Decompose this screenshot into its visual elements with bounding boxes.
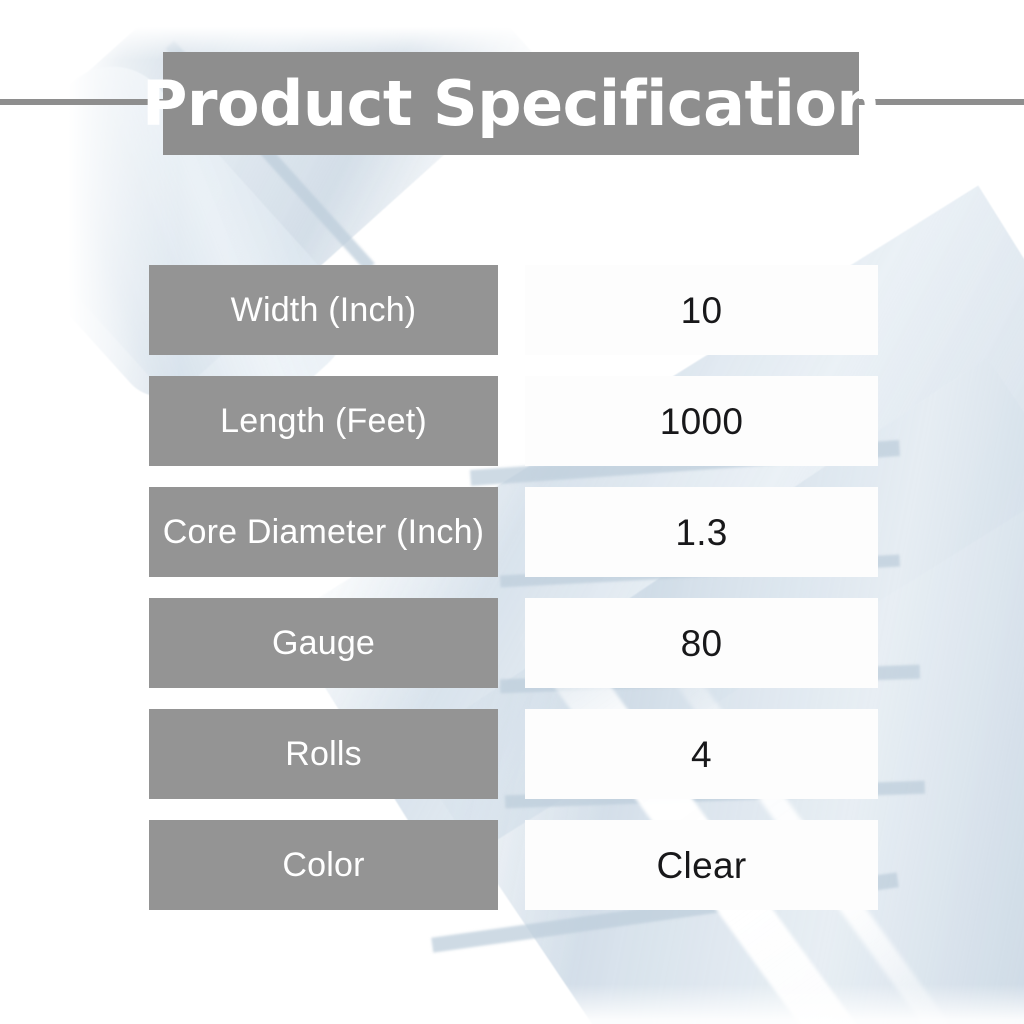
spec-label-text: Length (Feet) <box>220 403 427 439</box>
spec-value-cell: 10 <box>525 265 878 355</box>
product-specification-card: Product Specification Width (Inch) 10 Le… <box>0 0 1024 1024</box>
title-banner: Product Specification <box>163 52 859 155</box>
spec-label-text: Core Diameter (Inch) <box>163 514 484 550</box>
spec-value-text: Clear <box>657 847 747 884</box>
spec-label-cell: Width (Inch) <box>149 265 498 355</box>
spec-label-text: Width (Inch) <box>231 292 417 328</box>
spec-value-cell: 80 <box>525 598 878 688</box>
spec-value-text: 80 <box>681 625 723 662</box>
table-row: Length (Feet) 1000 <box>0 376 1024 466</box>
spec-value-cell: 1.3 <box>525 487 878 577</box>
table-row: Width (Inch) 10 <box>0 265 1024 355</box>
table-row: Color Clear <box>0 820 1024 910</box>
spec-label-cell: Color <box>149 820 498 910</box>
spec-value-cell: 4 <box>525 709 878 799</box>
specification-table: Width (Inch) 10 Length (Feet) 1000 Core … <box>0 265 1024 931</box>
spec-value-cell: Clear <box>525 820 878 910</box>
page-title: Product Specification <box>142 73 880 135</box>
spec-value-text: 4 <box>691 736 712 773</box>
spec-label-text: Gauge <box>272 625 375 661</box>
spec-label-cell: Gauge <box>149 598 498 688</box>
spec-label-cell: Core Diameter (Inch) <box>149 487 498 577</box>
table-row: Core Diameter (Inch) 1.3 <box>0 487 1024 577</box>
spec-label-text: Rolls <box>285 736 362 772</box>
table-row: Gauge 80 <box>0 598 1024 688</box>
spec-value-text: 1.3 <box>675 514 727 551</box>
background-fade-bottom <box>0 984 1024 1024</box>
spec-label-text: Color <box>282 847 364 883</box>
spec-value-cell: 1000 <box>525 376 878 466</box>
spec-value-text: 1000 <box>660 403 744 440</box>
spec-value-text: 10 <box>681 292 723 329</box>
spec-label-cell: Length (Feet) <box>149 376 498 466</box>
spec-label-cell: Rolls <box>149 709 498 799</box>
background-fade-top <box>0 0 1024 60</box>
table-row: Rolls 4 <box>0 709 1024 799</box>
